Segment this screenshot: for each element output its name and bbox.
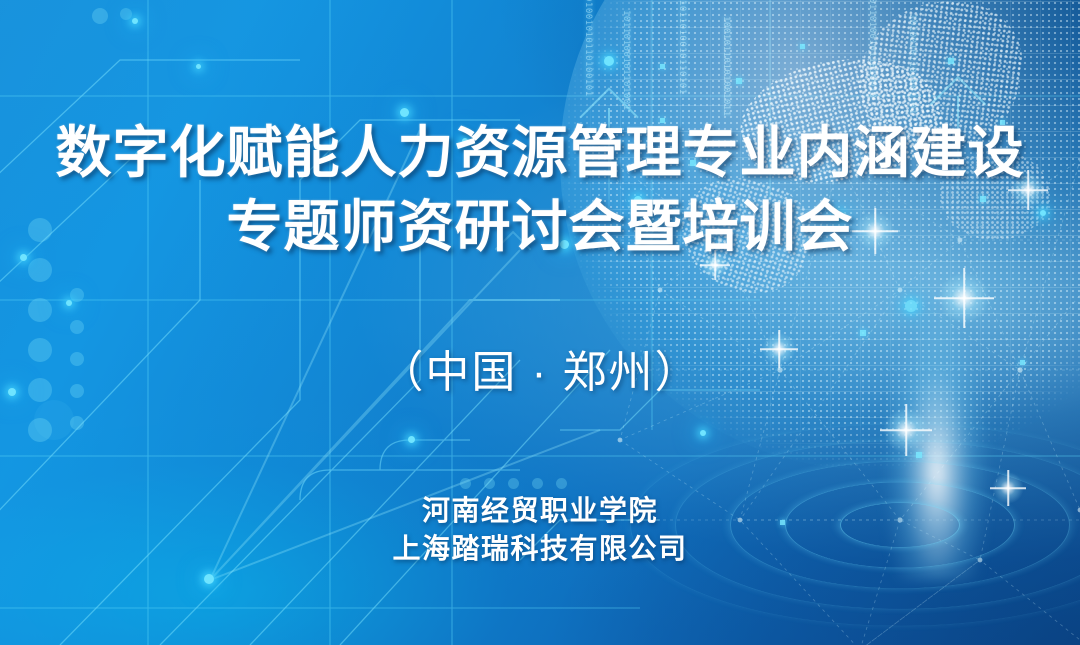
title-line-1: 数字化赋能人力资源管理专业内涵建设 — [0, 116, 1080, 190]
title-line-2: 专题师资研讨会暨培训会 — [0, 190, 1080, 264]
location-subtitle: （中国 · 郑州） — [0, 344, 1080, 402]
organizer-item: 河南经贸职业学院 — [0, 492, 1080, 530]
organizer-list: 河南经贸职业学院 上海踏瑞科技有限公司 — [0, 492, 1080, 568]
organizer-item: 上海踏瑞科技有限公司 — [0, 530, 1080, 568]
title-block: 数字化赋能人力资源管理专业内涵建设 专题师资研讨会暨培训会 — [0, 116, 1080, 264]
conference-banner: 01001010110100101 10110100101101001 0101… — [0, 0, 1080, 645]
banner-text: 数字化赋能人力资源管理专业内涵建设 专题师资研讨会暨培训会 （中国 · 郑州） … — [0, 0, 1080, 645]
